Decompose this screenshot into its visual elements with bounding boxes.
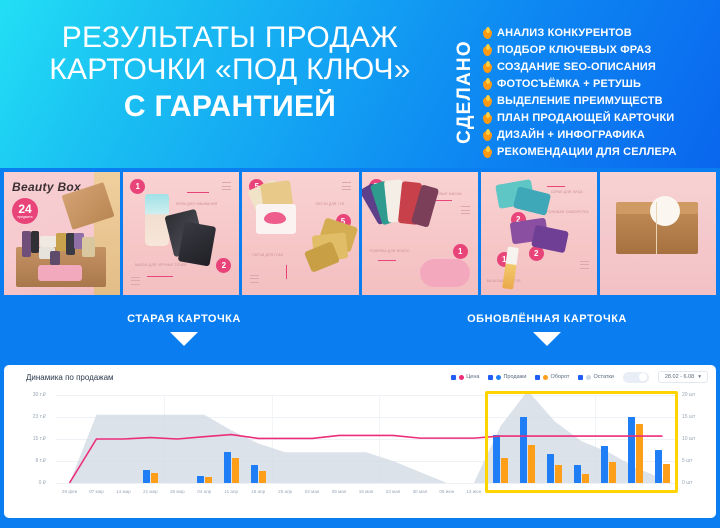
bar-prodazhi — [628, 417, 635, 483]
page-title-line2: КАРТОЧКИ «ПОД КЛЮЧ» — [6, 54, 454, 86]
date-range-value: 28.02 - 6.08 — [665, 374, 694, 380]
pointer-arrow — [547, 186, 565, 187]
bar-oborot — [555, 465, 562, 483]
bar-oborot — [259, 471, 266, 483]
legend-label: Продажи — [503, 374, 526, 380]
pink-headband — [420, 259, 470, 287]
product-item — [40, 236, 57, 247]
flame-icon — [483, 112, 492, 124]
tick-marks — [342, 182, 351, 193]
chart-toggle[interactable] — [623, 372, 649, 383]
item-count-number: 24 — [18, 203, 31, 215]
box-twine — [656, 202, 657, 254]
chart-title: Динамика по продажам — [26, 373, 114, 382]
bar-oborot — [582, 474, 589, 483]
legend-label: Оборот — [550, 374, 569, 380]
bar-oborot — [663, 464, 670, 483]
old-card-arrow-icon — [170, 332, 198, 346]
legend-checkbox[interactable] — [451, 375, 456, 380]
pointer-arrow — [378, 260, 396, 261]
checklist-item-label: ФОТОСЪЁМКА + РЕТУШЬ — [497, 78, 641, 90]
legend-item-продажи[interactable]: Продажи — [488, 374, 526, 380]
product-card-sheet-masks: 5 1 ТКАНЕВЫЕ МАСКИ ПОВЯЗКА ДЛЯ ВОЛОС — [362, 172, 478, 295]
checklist-item: ПОДБОР КЛЮЧЕВЫХ ФРАЗ — [483, 41, 715, 58]
legend-checkbox[interactable] — [578, 375, 583, 380]
legend-item-цена[interactable]: Цена — [451, 374, 479, 380]
caption-text: ПАТЧИ ДЛЯ ГЛАЗ — [252, 253, 283, 257]
checklist-item: ФОТОСЪЁМКА + РЕТУШЬ — [483, 75, 715, 92]
caption-text: СКРАБ ДЛЯ ЛИЦА — [551, 190, 583, 194]
page-title-line1: РЕЗУЛЬТАТЫ ПРОДАЖ — [6, 22, 454, 54]
old-card-label: СТАРАЯ КАРТОЧКА — [104, 313, 264, 325]
flame-icon — [483, 78, 492, 90]
legend-item-остатки[interactable]: Остатки — [578, 374, 613, 380]
pointer-arrow — [434, 200, 452, 201]
caption-text: ПОВЯЗКА ДЛЯ ВОЛОС — [370, 249, 410, 253]
product-card-beauty-box-cover: Beauty Box 24 предмета — [4, 172, 120, 295]
pink-headband — [38, 265, 82, 281]
legend-checkbox[interactable] — [488, 375, 493, 380]
bar-oborot — [232, 458, 239, 483]
chart-plot-area: 30 т.₽20 шт23 т.₽15 шт15 т.₽10 шт8 т.₽5 … — [4, 391, 716, 518]
pointer-arrow — [187, 192, 209, 193]
checklist-item-label: АНАЛИЗ КОНКУРЕНТОВ — [497, 27, 632, 39]
bar-prodazhi — [493, 435, 500, 483]
date-range-selector[interactable]: 28.02 - 6.08▾ — [658, 371, 708, 383]
item-count-caption: предмета — [17, 215, 32, 219]
product-card-strip: Beauty Box 24 предмета 1 2 КРЕМ ДЛЯ УМЫВ… — [0, 168, 720, 299]
checklist-item: СОЗДАНИЕ SEO-ОПИСАНИЯ — [483, 58, 715, 75]
flame-icon — [483, 44, 492, 56]
legend-color-dot — [496, 375, 501, 380]
bar-prodazhi — [574, 465, 581, 483]
chart-series-svg — [4, 391, 716, 518]
product-item — [50, 251, 60, 265]
product-card-gift-box — [600, 172, 716, 295]
flame-icon — [483, 61, 492, 73]
bar-prodazhi — [547, 454, 554, 483]
bar-prodazhi — [655, 450, 662, 483]
product-card-scrub-serum: 2 2 1 СКРАБ ДЛЯ ЛИЦА ГИАЛУРОНОВАЯ СЫВОРО… — [481, 172, 597, 295]
product-card-cream-and-masks: 1 2 КРЕМ ДЛЯ УМЫВАНИЯ МАСКА ДЛЯ ЧЁРНЫХ Т… — [123, 172, 239, 295]
bar-prodazhi — [251, 465, 258, 483]
comparison-labels: СТАРАЯ КАРТОЧКА ОБНОВЛЁННАЯ КАРТОЧКА — [0, 299, 720, 365]
bar-prodazhi — [224, 452, 231, 483]
step-badge: 1 — [453, 244, 468, 259]
new-card-arrow-icon — [533, 332, 561, 346]
legend-label: Остатки — [593, 374, 613, 380]
sales-dynamics-panel: Динамика по продажам ЦенаПродажиОборотОс… — [4, 365, 716, 518]
legend-checkbox[interactable] — [535, 375, 540, 380]
caption-text: КРЕМ ДЛЯ УМЫВАНИЯ — [176, 202, 217, 206]
watermark: avito — [648, 492, 685, 512]
pointer-arrow — [286, 265, 287, 279]
legend-label: Цена — [466, 374, 479, 380]
chevron-down-icon: ▾ — [698, 374, 701, 380]
bar-prodazhi — [197, 476, 204, 483]
checklist-item-label: ПОДБОР КЛЮЧЕВЫХ ФРАЗ — [497, 44, 651, 56]
product-card-patches: 5 5 ПАТЧИ ДЛЯ ГУБ ПАТЧИ ДЛЯ ГЛАЗ — [242, 172, 358, 295]
checklist-item-label: СОЗДАНИЕ SEO-ОПИСАНИЯ — [497, 61, 656, 73]
pointer-arrow — [147, 276, 173, 277]
legend-item-оборот[interactable]: Оборот — [535, 374, 569, 380]
page-title: РЕЗУЛЬТАТЫ ПРОДАЖ КАРТОЧКИ «ПОД КЛЮЧ» С … — [6, 22, 454, 123]
checklist: АНАЛИЗ КОНКУРЕНТОВПОДБОР КЛЮЧЕВЫХ ФРАЗСО… — [483, 24, 715, 160]
tick-marks — [461, 206, 470, 217]
tick-marks — [222, 182, 231, 193]
box-sticker — [650, 196, 680, 226]
new-card-label: ОБНОВЛЁННАЯ КАРТОЧКА — [452, 313, 642, 325]
legend-color-dot — [586, 375, 591, 380]
flame-icon — [483, 27, 492, 39]
caption-text: МАСКА ДЛЯ ЧЁРНЫХ ТОЧЕК — [135, 263, 186, 267]
flame-icon — [483, 95, 492, 107]
flame-icon — [483, 129, 492, 141]
checklist-item-label: ДИЗАЙН + ИНФОГРАФИКА — [497, 129, 645, 141]
tick-marks — [250, 275, 259, 286]
lip-shape — [264, 212, 286, 224]
bar-prodazhi — [601, 446, 608, 483]
tick-marks — [580, 261, 589, 272]
checklist-item-label: РЕКОМЕНДАЦИИ ДЛЯ СЕЛЛЕРА — [497, 146, 677, 158]
done-vertical-text: СДЕЛАНО — [454, 40, 476, 144]
bar-oborot — [636, 424, 643, 483]
done-vertical-label: СДЕЛАНО — [452, 24, 478, 160]
bar-oborot — [609, 462, 616, 483]
page-title-line3: С ГАРАНТИЕЙ — [6, 91, 454, 123]
caption-text: ПАТЧИ ДЛЯ ГУБ — [316, 202, 345, 206]
bar-oborot — [528, 445, 535, 483]
hero-banner: РЕЗУЛЬТАТЫ ПРОДАЖ КАРТОЧКИ «ПОД КЛЮЧ» С … — [0, 0, 720, 168]
bar-oborot — [205, 477, 212, 483]
box-contents — [20, 223, 104, 265]
product-item — [22, 231, 31, 257]
legend-color-dot — [459, 375, 464, 380]
item-count-badge: 24 предмета — [12, 198, 38, 224]
product-item — [31, 231, 39, 253]
checklist-item-label: ВЫДЕЛЕНИЕ ПРЕИМУЩЕСТВ — [497, 95, 663, 107]
flame-icon — [483, 146, 492, 158]
checklist-item: РЕКОМЕНДАЦИИ ДЛЯ СЕЛЛЕРА — [483, 143, 715, 160]
tick-marks — [131, 277, 140, 288]
product-item — [82, 237, 95, 257]
checklist-item: ВЫДЕЛЕНИЕ ПРЕИМУЩЕСТВ — [483, 92, 715, 109]
bar-prodazhi — [143, 470, 150, 483]
bar-prodazhi — [520, 417, 527, 483]
chart-legend: ЦенаПродажиОборотОстатки28.02 - 6.08▾ — [451, 371, 708, 383]
legend-color-dot — [543, 375, 548, 380]
checklist-item-label: ПЛАН ПРОДАЮЩЕЙ КАРТОЧКИ — [497, 112, 674, 124]
bar-oborot — [501, 458, 508, 483]
checklist-item: ПЛАН ПРОДАЮЩЕЙ КАРТОЧКИ — [483, 109, 715, 126]
checklist-item: АНАЛИЗ КОНКУРЕНТОВ — [483, 24, 715, 41]
bar-oborot — [151, 473, 158, 483]
checklist-item: ДИЗАЙН + ИНФОГРАФИКА — [483, 126, 715, 143]
